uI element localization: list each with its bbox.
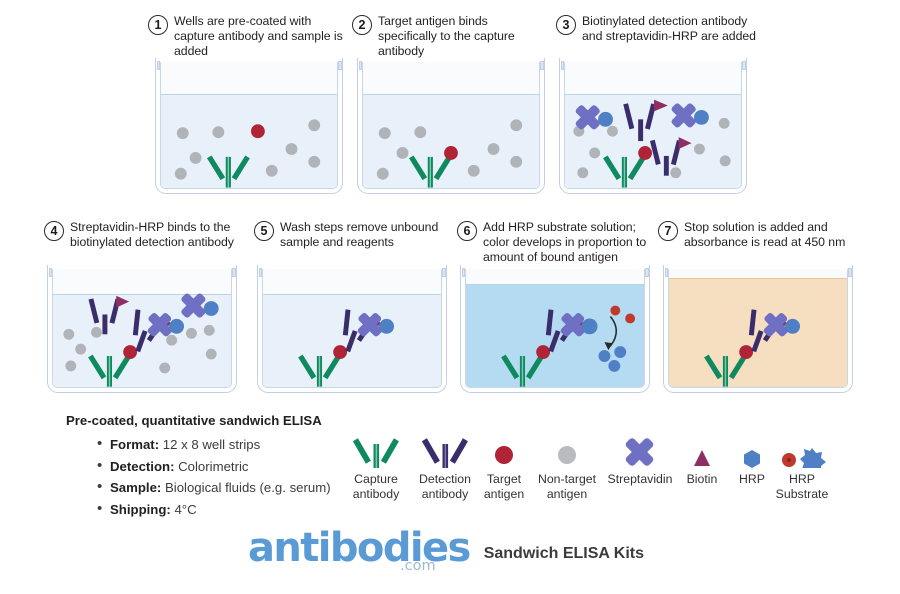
- brand-logo: antibodies .com: [248, 528, 470, 568]
- legend-detection-antibody: Detection antibody: [409, 428, 481, 501]
- legend-non-target-antigen: Non-target antigen: [531, 428, 603, 501]
- well-rim-right-6: [645, 268, 649, 277]
- well-rim-right-4: [232, 268, 236, 277]
- well-rim-left-1: [157, 61, 161, 70]
- well-outline-6: [460, 265, 650, 393]
- well-rim-left-2: [359, 61, 363, 70]
- step-number-1: 1: [148, 15, 168, 35]
- step-text-2: Target antigen binds specifically to the…: [378, 14, 548, 60]
- list-item-sample: Sample: Biological fluids (e.g. serum): [110, 477, 331, 499]
- legend-hrp-substrate: HRP Substrate: [768, 428, 836, 501]
- legend-label-non-target-antigen: Non-target antigen: [538, 472, 596, 501]
- capture-antibody-icon: [352, 428, 400, 468]
- well-outline-4: [47, 265, 237, 393]
- step-caption-3: 3 Biotinylated detection antibody and st…: [556, 14, 761, 44]
- legend-label-target-antigen: Target antigen: [484, 472, 524, 501]
- brand-footer: antibodies .com Sandwich ELISA Kits: [248, 528, 644, 568]
- well-panel-1: [155, 58, 343, 194]
- list-item-detection: Detection: Colorimetric: [110, 456, 331, 478]
- step-text-7: Stop solution is added and absorbance is…: [684, 220, 858, 250]
- step-number-2: 2: [352, 15, 372, 35]
- bullet-value-shipping: 4°C: [171, 502, 197, 517]
- well-rim-left-3: [561, 61, 565, 70]
- step-text-1: Wells are pre-coated with capture antibo…: [174, 14, 348, 60]
- elisa-infographic: 1 Wells are pre-coated with capture anti…: [0, 0, 900, 594]
- well-outline-3: [559, 58, 747, 194]
- legend-label-detection-antibody: Detection antibody: [419, 472, 471, 501]
- bullet-value-sample: Biological fluids (e.g. serum): [161, 480, 330, 495]
- step-caption-1: 1 Wells are pre-coated with capture anti…: [148, 14, 348, 60]
- well-panel-2: [357, 58, 545, 194]
- bullet-value-detection: Colorimetric: [174, 459, 248, 474]
- target-antigen-icon: [489, 428, 519, 468]
- legend-streptavidin: Streptavidin: [599, 428, 681, 487]
- well-rim-left-4: [49, 268, 53, 277]
- step-text-6: Add HRP substrate solution; color develo…: [483, 220, 655, 266]
- list-item-format: Format: 12 x 8 well strips: [110, 434, 331, 456]
- legend-label-biotin: Biotin: [687, 472, 718, 487]
- step-text-3: Biotinylated detection antibody and stre…: [582, 14, 761, 44]
- bullet-label-shipping: Shipping:: [110, 502, 171, 517]
- brand-dotcom: .com: [400, 558, 436, 574]
- bullet-label-sample: Sample:: [110, 480, 161, 495]
- step-number-5: 5: [254, 221, 274, 241]
- info-title: Pre-coated, quantitative sandwich ELISA: [66, 413, 322, 428]
- well-rim-left-5: [259, 268, 263, 277]
- well-rim-right-3: [742, 61, 746, 70]
- well-outline-5: [257, 265, 447, 393]
- step-caption-7: 7 Stop solution is added and absorbance …: [658, 220, 858, 250]
- well-rim-left-6: [462, 268, 466, 277]
- step-caption-2: 2 Target antigen binds specifically to t…: [352, 14, 548, 60]
- step-number-3: 3: [556, 15, 576, 35]
- well-outline-1: [155, 58, 343, 194]
- bullet-value-format: 12 x 8 well strips: [159, 437, 260, 452]
- well-rim-right-7: [848, 268, 852, 277]
- well-panel-6: [460, 265, 650, 393]
- well-rim-left-7: [665, 268, 669, 277]
- step-text-4: Streptavidin-HRP binds to the biotinylat…: [70, 220, 240, 250]
- hrp-substrate-icon: [776, 428, 828, 468]
- well-panel-3: [559, 58, 747, 194]
- brand-tagline: Sandwich ELISA Kits: [484, 545, 644, 563]
- legend-label-capture-antibody: Capture antibody: [353, 472, 400, 501]
- bullet-label-detection: Detection:: [110, 459, 174, 474]
- hrp-icon: [738, 428, 766, 468]
- legend-label-hrp: HRP: [739, 472, 765, 487]
- legend-target-antigen: Target antigen: [474, 428, 534, 501]
- streptavidin-icon: [618, 428, 662, 468]
- step-caption-5: 5 Wash steps remove unbound sample and r…: [254, 220, 444, 250]
- step-caption-6: 6 Add HRP substrate solution; color deve…: [457, 220, 655, 266]
- biotin-icon: [688, 428, 716, 468]
- well-rim-right-5: [442, 268, 446, 277]
- well-panel-7: [663, 265, 853, 393]
- step-number-6: 6: [457, 221, 477, 241]
- brand-wordmark: antibodies: [248, 528, 470, 568]
- well-rim-right-1: [338, 61, 342, 70]
- step-caption-4: 4 Streptavidin-HRP binds to the biotinyl…: [44, 220, 240, 250]
- list-item-shipping: Shipping: 4°C: [110, 499, 331, 521]
- well-rim-right-2: [540, 61, 544, 70]
- step-text-5: Wash steps remove unbound sample and rea…: [280, 220, 444, 250]
- well-outline-7: [663, 265, 853, 393]
- well-panel-4: [47, 265, 237, 393]
- step-number-4: 4: [44, 221, 64, 241]
- well-panel-5: [257, 265, 447, 393]
- detection-antibody-icon: [421, 428, 469, 468]
- legend-biotin: Biotin: [677, 428, 727, 487]
- bullet-label-format: Format:: [110, 437, 159, 452]
- legend-label-streptavidin: Streptavidin: [608, 472, 673, 487]
- legend-capture-antibody: Capture antibody: [340, 428, 412, 501]
- info-bullet-list: Format: 12 x 8 well strips Detection: Co…: [92, 434, 331, 520]
- well-outline-2: [357, 58, 545, 194]
- step-number-7: 7: [658, 221, 678, 241]
- non-target-antigen-icon: [552, 428, 582, 468]
- legend-label-hrp-substrate: HRP Substrate: [776, 472, 829, 501]
